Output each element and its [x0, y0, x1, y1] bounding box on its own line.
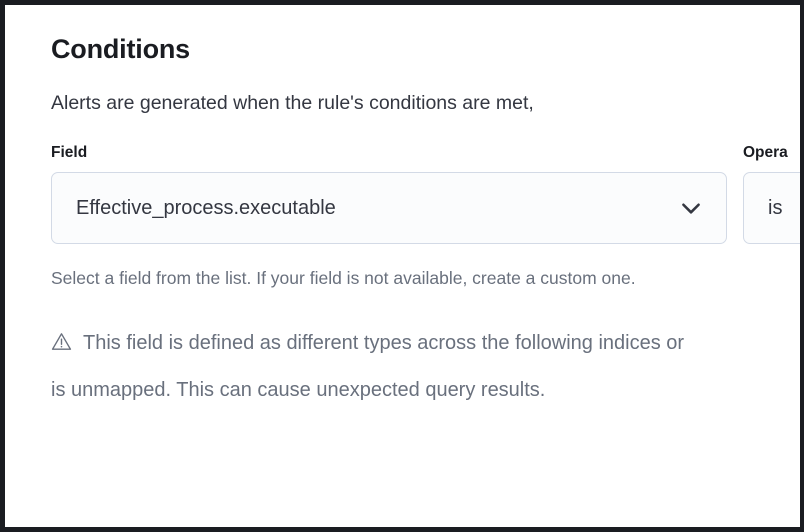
operator-combobox[interactable]: is: [743, 172, 800, 244]
operator-combobox-value: is: [768, 195, 782, 221]
field-combobox-value: Effective_process.executable: [76, 195, 336, 221]
field-helper-text: Select a field from the list. If your fi…: [51, 263, 681, 294]
operator-label: Opera: [743, 143, 788, 163]
page-title: Conditions: [51, 5, 800, 66]
conditions-panel-content: Conditions Alerts are generated when the…: [51, 5, 800, 414]
chevron-down-icon[interactable]: [678, 195, 704, 221]
conditions-panel: Conditions Alerts are generated when the…: [5, 5, 800, 527]
field-type-warning-text: This field is defined as different types…: [51, 332, 684, 401]
screenshot-frame: Conditions Alerts are generated when the…: [0, 0, 804, 532]
field-combobox[interactable]: Effective_process.executable: [51, 172, 727, 244]
section-description: Alerts are generated when the rule's con…: [51, 66, 800, 117]
field-label: Field: [51, 143, 87, 163]
condition-row: Field Opera Effective_process.executable…: [51, 143, 800, 263]
warning-triangle-icon: [51, 331, 72, 352]
field-type-warning: This field is defined as different types…: [51, 294, 701, 414]
